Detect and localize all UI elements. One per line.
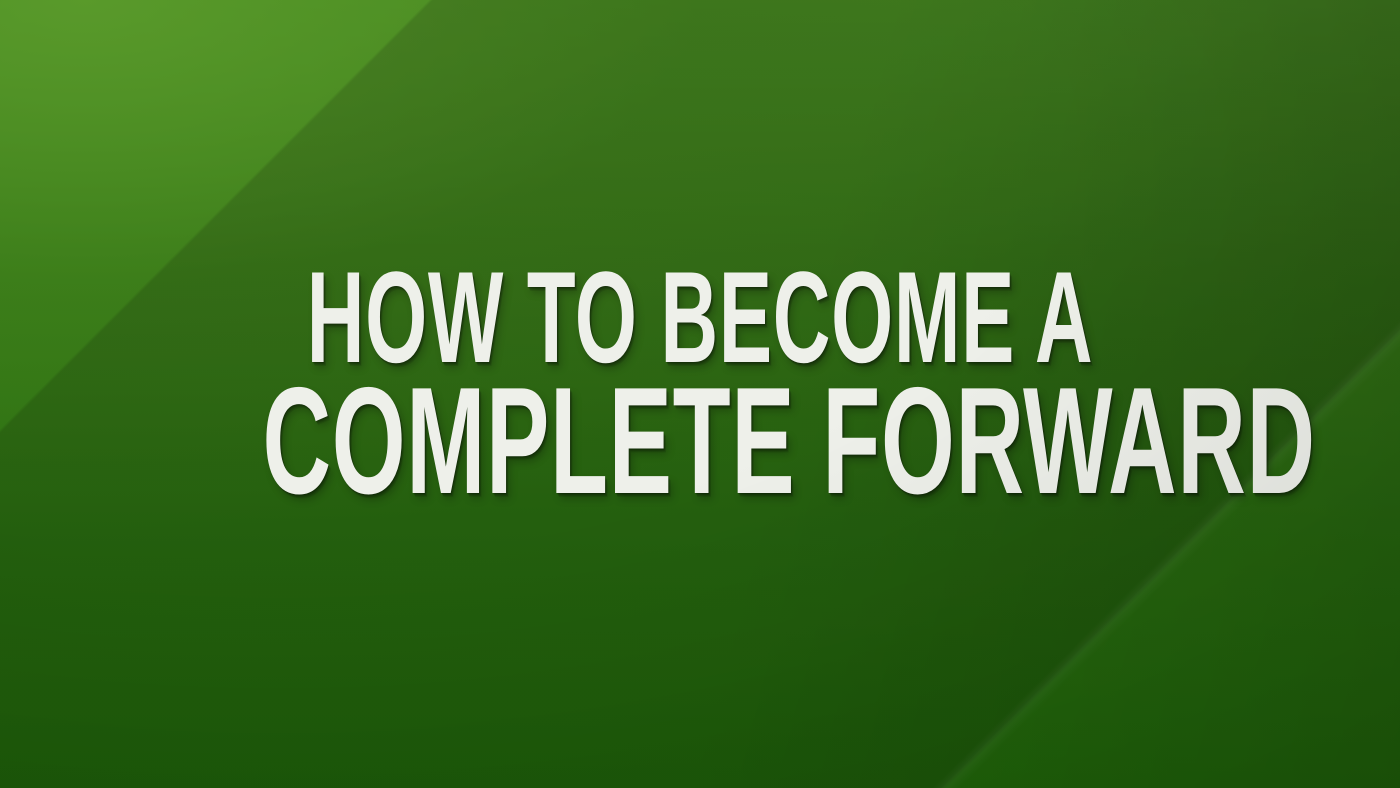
title-slide: How to Become a Complete Forward (0, 0, 1400, 788)
headline-block: How to Become a Complete Forward (0, 258, 1400, 511)
headline-line-2: Complete Forward (263, 372, 1138, 512)
